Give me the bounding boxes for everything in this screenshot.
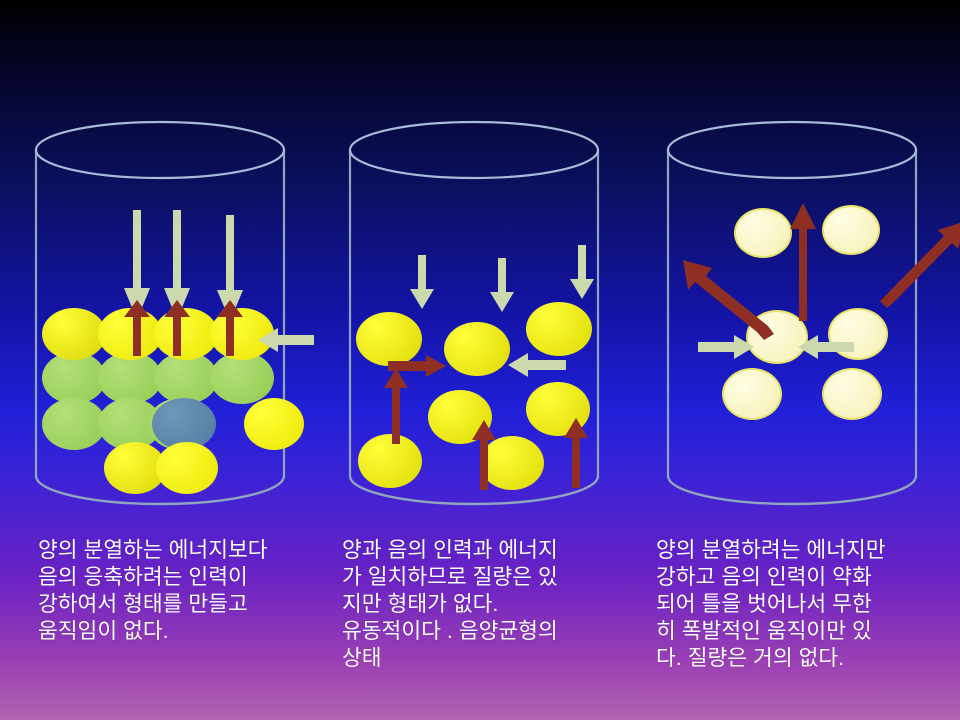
particle-yellow: [526, 302, 592, 356]
arrow-up-red: [122, 300, 152, 358]
particle-cream: [822, 205, 880, 255]
particle-green: [42, 398, 106, 450]
arrow-up-left-red: [680, 250, 776, 340]
particle-yellow: [444, 322, 510, 376]
panel-gas: 양의 분열하려는 에너지만 강하고 음의 인력이 약화 되어 틀을 벗어나서 무…: [650, 0, 960, 720]
arrow-up-red: [788, 203, 818, 323]
caption-panel-liquid: 양과 음의 인력과 에너지 가 일치하므로 질량은 있 지만 형태가 없다. 유…: [342, 537, 652, 672]
particle-yellow: [156, 442, 218, 494]
arrow-down-light: [568, 245, 596, 301]
arrow-up-right-red: [878, 205, 960, 305]
arrow-left-light: [508, 352, 568, 378]
particle-yellow: [42, 308, 106, 360]
caption-panel-solid: 양의 분열하는 에너지보다 음의 응축하려는 인력이 강하여서 형태를 만들고 …: [38, 537, 338, 645]
arrow-up-red: [382, 368, 410, 446]
slide-canvas: 양의 분열하는 에너지보다 음의 응축하려는 인력이 강하여서 형태를 만들고 …: [0, 0, 960, 720]
arrow-up-red: [470, 420, 498, 492]
panel-solid: 양의 분열하는 에너지보다 음의 응축하려는 인력이 강하여서 형태를 만들고 …: [0, 0, 330, 720]
caption-panel-gas: 양의 분열하려는 에너지만 강하고 음의 인력이 약화 되어 틀을 벗어나서 무…: [656, 537, 960, 672]
arrow-left-light: [798, 334, 856, 360]
particle-yellow: [244, 398, 304, 450]
arrow-down-light: [408, 255, 436, 311]
arrow-up-red: [562, 418, 590, 490]
particle-cream: [722, 368, 782, 420]
arrow-up-red: [215, 300, 245, 358]
particle-cream: [822, 368, 882, 420]
arrow-up-red: [162, 300, 192, 358]
arrow-down-light: [488, 258, 516, 314]
arrow-left-light: [258, 327, 316, 353]
panel-liquid: 양과 음의 인력과 에너지 가 일치하므로 질량은 있 지만 형태가 없다. 유…: [330, 0, 650, 720]
arrow-right-light: [698, 334, 756, 360]
